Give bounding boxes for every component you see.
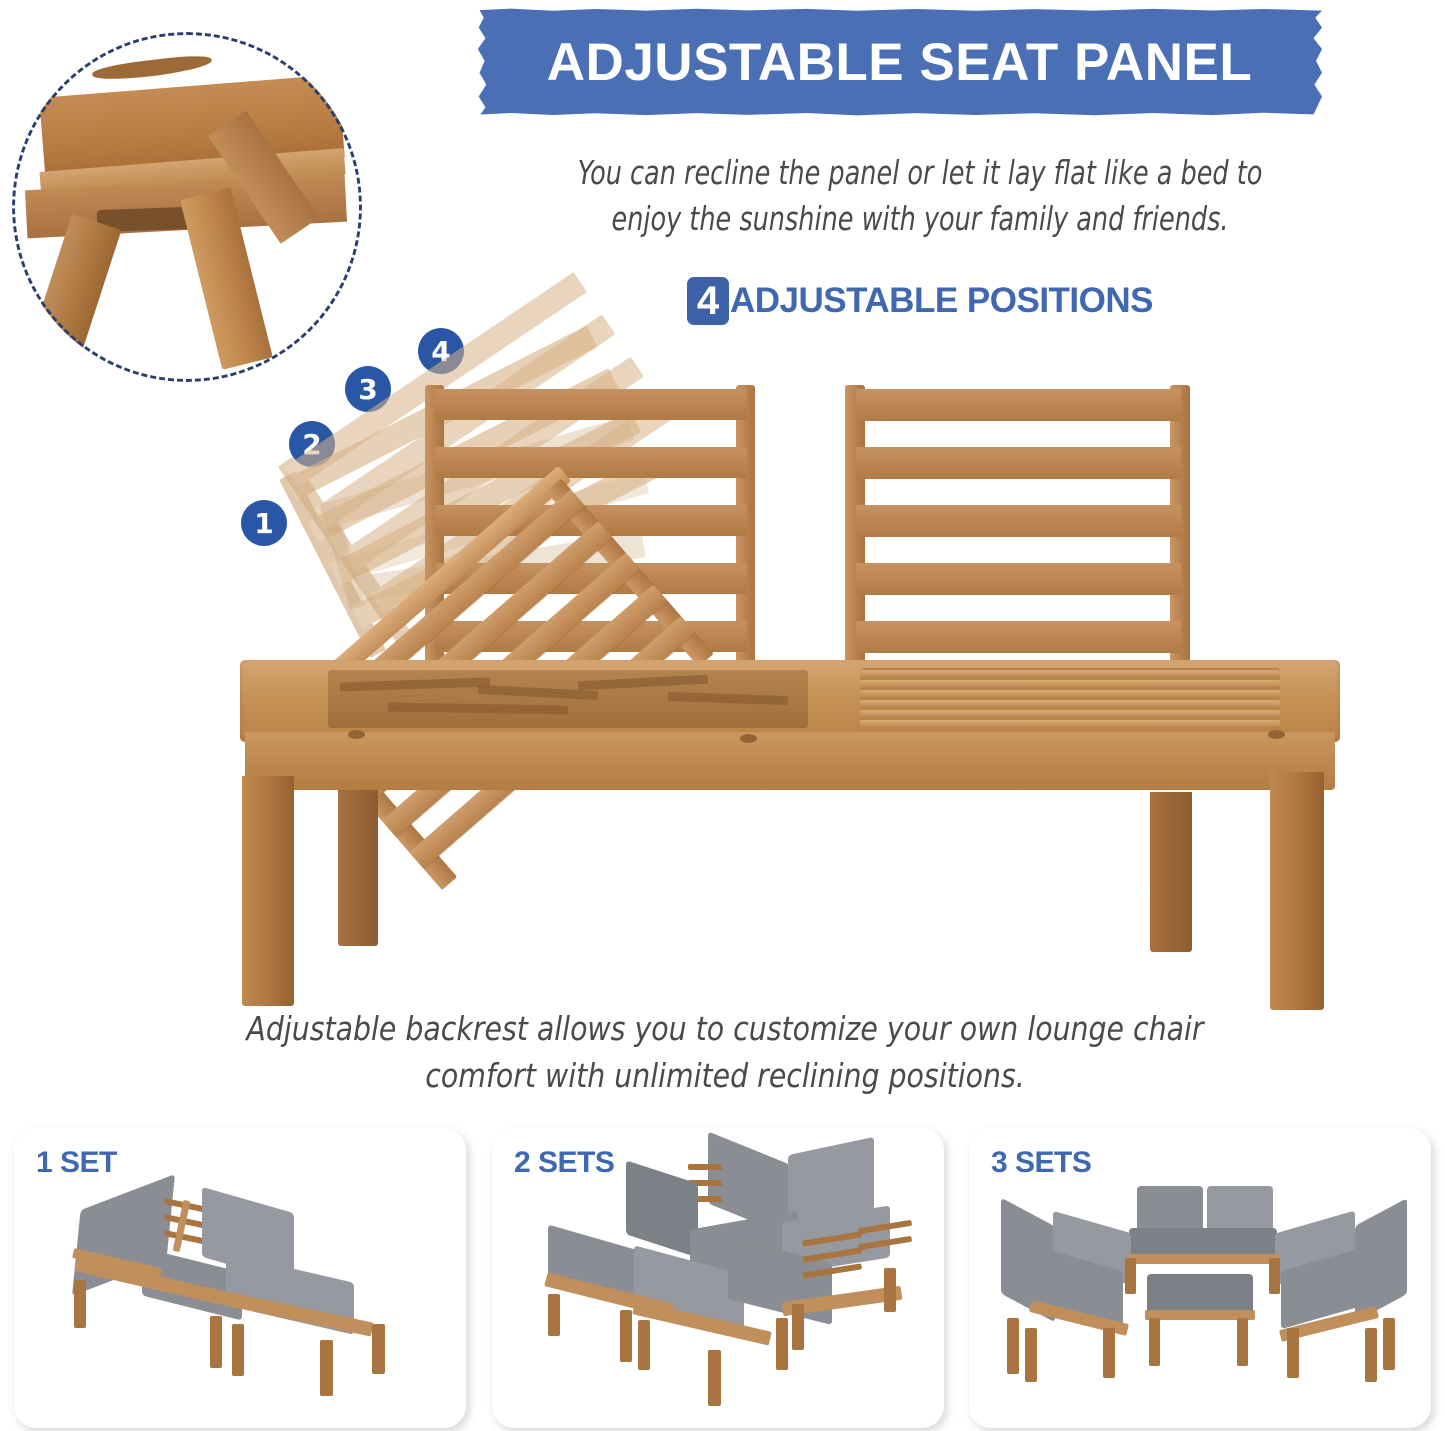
bottom-caption-line-1: Adjustable backrest allows you to custom… bbox=[231, 1005, 1220, 1052]
leg-front-right bbox=[1270, 772, 1324, 1010]
set-card-2-sets[interactable]: 2 SETS bbox=[492, 1128, 944, 1428]
set-card-3-sets[interactable]: 3 SETS bbox=[969, 1128, 1431, 1428]
backrest-right-slat-3 bbox=[856, 505, 1181, 537]
support-bracket-closeup-inset bbox=[12, 32, 362, 382]
seat-mechanism-well bbox=[328, 670, 808, 728]
title-banner: ADJUSTABLE SEAT PANEL bbox=[477, 8, 1322, 116]
backrest-right-slat-2 bbox=[856, 447, 1181, 479]
main-product-illustration bbox=[220, 340, 1340, 1020]
position-count-badge: 4 bbox=[687, 277, 729, 325]
frame-hole-left bbox=[348, 730, 365, 739]
seat-frame-front-rail bbox=[245, 732, 1335, 790]
subtitle-text: You can recline the panel or let it lay … bbox=[533, 150, 1307, 242]
seat-slat-surface bbox=[860, 668, 1280, 730]
frame-hole-right bbox=[1268, 730, 1285, 739]
bottom-caption-text: Adjustable backrest allows you to custom… bbox=[231, 1005, 1220, 1099]
subtitle-line-1: You can recline the panel or let it lay … bbox=[533, 150, 1307, 196]
set-card-3-image bbox=[969, 1128, 1431, 1428]
bottom-caption-line-2: comfort with unlimited reclining positio… bbox=[231, 1052, 1220, 1099]
set-card-2-image bbox=[492, 1128, 944, 1428]
set-card-1-set[interactable]: 1 SET bbox=[14, 1128, 466, 1428]
leg-rear-left bbox=[338, 790, 378, 946]
backrest-right-slat-4 bbox=[856, 563, 1181, 595]
frame-hole-center bbox=[740, 734, 757, 743]
backrest-right-upright bbox=[845, 385, 1190, 685]
positions-headline: 4 ADJUSTABLE POSITIONS bbox=[490, 277, 1350, 325]
leg-rear-right bbox=[1150, 792, 1192, 952]
backrest-left-slat-2 bbox=[435, 447, 747, 478]
subtitle-line-2: enjoy the sunshine with your family and … bbox=[533, 196, 1307, 242]
backrest-left-slat-1 bbox=[435, 389, 747, 420]
positions-headline-label: ADJUSTABLE POSITIONS bbox=[730, 281, 1153, 321]
page-title: ADJUSTABLE SEAT PANEL bbox=[477, 8, 1322, 116]
backrest-right-slat-5 bbox=[856, 621, 1181, 653]
backrest-right-slat-1 bbox=[856, 389, 1181, 421]
set-card-1-image bbox=[14, 1128, 466, 1428]
leg-front-left bbox=[242, 776, 294, 1006]
inset-dashed-ring bbox=[12, 32, 362, 382]
